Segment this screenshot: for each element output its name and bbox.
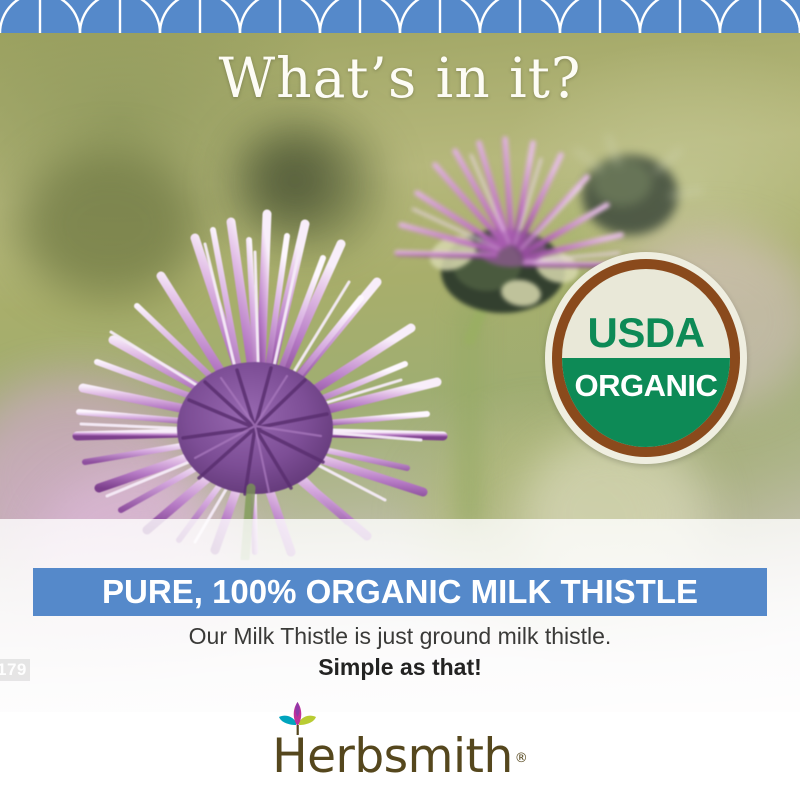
callout-banner: PURE, 100% ORGANIC MILK THISTLE <box>33 568 767 616</box>
subcopy-line-1: Our Milk Thistle is just ground milk thi… <box>0 622 800 652</box>
seal-organic-text: ORGANIC <box>562 370 730 401</box>
seal-usda-text: USDA <box>562 312 730 354</box>
subcopy-block: Our Milk Thistle is just ground milk thi… <box>0 622 800 683</box>
usda-organic-seal: USDA ORGANIC <box>545 252 747 464</box>
flower-petal-logo-mark <box>278 701 318 735</box>
watermark-fragment: 179 <box>0 659 30 681</box>
seal-inner-face: USDA ORGANIC <box>562 269 730 447</box>
brand-name: Herbsmith <box>272 733 512 780</box>
callout-text: PURE, 100% ORGANIC MILK THISTLE <box>102 573 698 611</box>
brand-logo[interactable]: Herbsmith ® <box>0 712 800 800</box>
top-decorative-banner <box>0 0 800 33</box>
subcopy-line-2: Simple as that! <box>0 652 800 683</box>
poster-root: What’s in it? USDA ORGANIC PURE, 100% OR… <box>0 0 800 800</box>
page-title: What’s in it? <box>0 48 800 109</box>
footer-bar: Herbsmith ® <box>0 712 800 800</box>
registered-trademark-mark: ® <box>515 751 528 766</box>
arch-pattern-svg <box>0 0 800 33</box>
main-thistle-flower <box>55 200 485 560</box>
